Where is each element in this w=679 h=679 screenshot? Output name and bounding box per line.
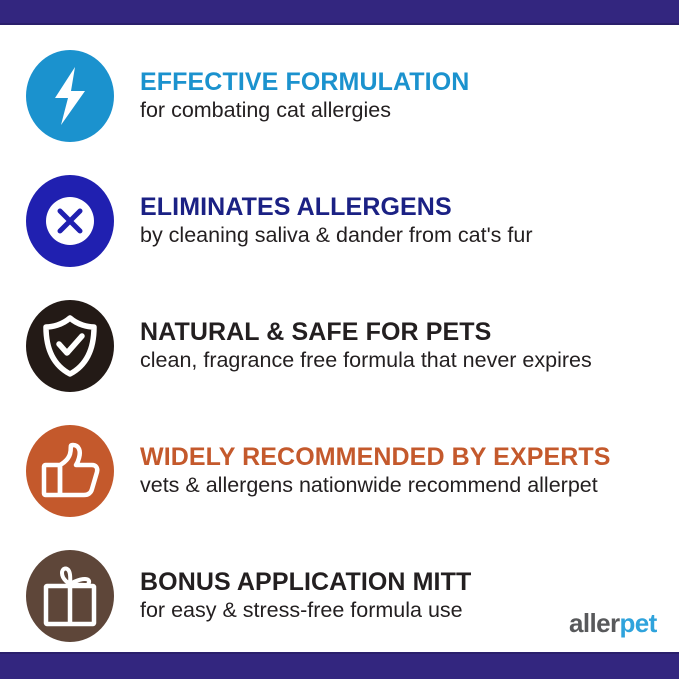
top-accent-bar — [0, 0, 679, 25]
feature-text: WIDELY RECOMMENDED BY EXPERTS vets & all… — [140, 443, 679, 498]
feature-text: EFFECTIVE FORMULATION for combating cat … — [140, 68, 679, 123]
feature-subline: for combating cat allergies — [140, 98, 667, 123]
feature-headline: NATURAL & SAFE FOR PETS — [140, 318, 667, 346]
lightning-bolt-icon — [26, 50, 114, 142]
thumbs-up-icon — [26, 425, 114, 517]
brand-logo-pet: pet — [620, 608, 657, 638]
gift-box-icon — [26, 550, 114, 642]
feature-icon-wrapper — [0, 425, 140, 517]
feature-icon-wrapper — [0, 300, 140, 392]
x-circle-icon — [26, 175, 114, 267]
feature-item-bonus-mitt: BONUS APPLICATION MITT for easy & stress… — [0, 533, 679, 658]
feature-text: ELIMINATES ALLERGENS by cleaning saliva … — [140, 193, 679, 248]
feature-headline: ELIMINATES ALLERGENS — [140, 193, 667, 221]
feature-headline: BONUS APPLICATION MITT — [140, 568, 667, 596]
brand-logo-aller: aller — [569, 608, 620, 638]
bottom-accent-bar — [0, 652, 679, 679]
feature-subline: vets & allergens nationwide recommend al… — [140, 473, 667, 498]
feature-icon-wrapper — [0, 175, 140, 267]
feature-headline: WIDELY RECOMMENDED BY EXPERTS — [140, 443, 667, 471]
feature-icon-wrapper — [0, 550, 140, 642]
feature-icon-wrapper — [0, 50, 140, 142]
product-feature-poster: EFFECTIVE FORMULATION for combating cat … — [0, 0, 679, 679]
brand-logo: allerpet — [569, 610, 657, 636]
feature-subline: by cleaning saliva & dander from cat's f… — [140, 223, 667, 248]
feature-item-eliminates-allergens: ELIMINATES ALLERGENS by cleaning saliva … — [0, 158, 679, 283]
feature-item-widely-recommended: WIDELY RECOMMENDED BY EXPERTS vets & all… — [0, 408, 679, 533]
feature-text: NATURAL & SAFE FOR PETS clean, fragrance… — [140, 318, 679, 373]
feature-subline: clean, fragrance free formula that never… — [140, 348, 667, 373]
feature-item-natural-safe: NATURAL & SAFE FOR PETS clean, fragrance… — [0, 283, 679, 408]
feature-item-effective-formulation: EFFECTIVE FORMULATION for combating cat … — [0, 33, 679, 158]
feature-list: EFFECTIVE FORMULATION for combating cat … — [0, 25, 679, 652]
feature-headline: EFFECTIVE FORMULATION — [140, 68, 667, 96]
shield-check-icon — [26, 300, 114, 392]
